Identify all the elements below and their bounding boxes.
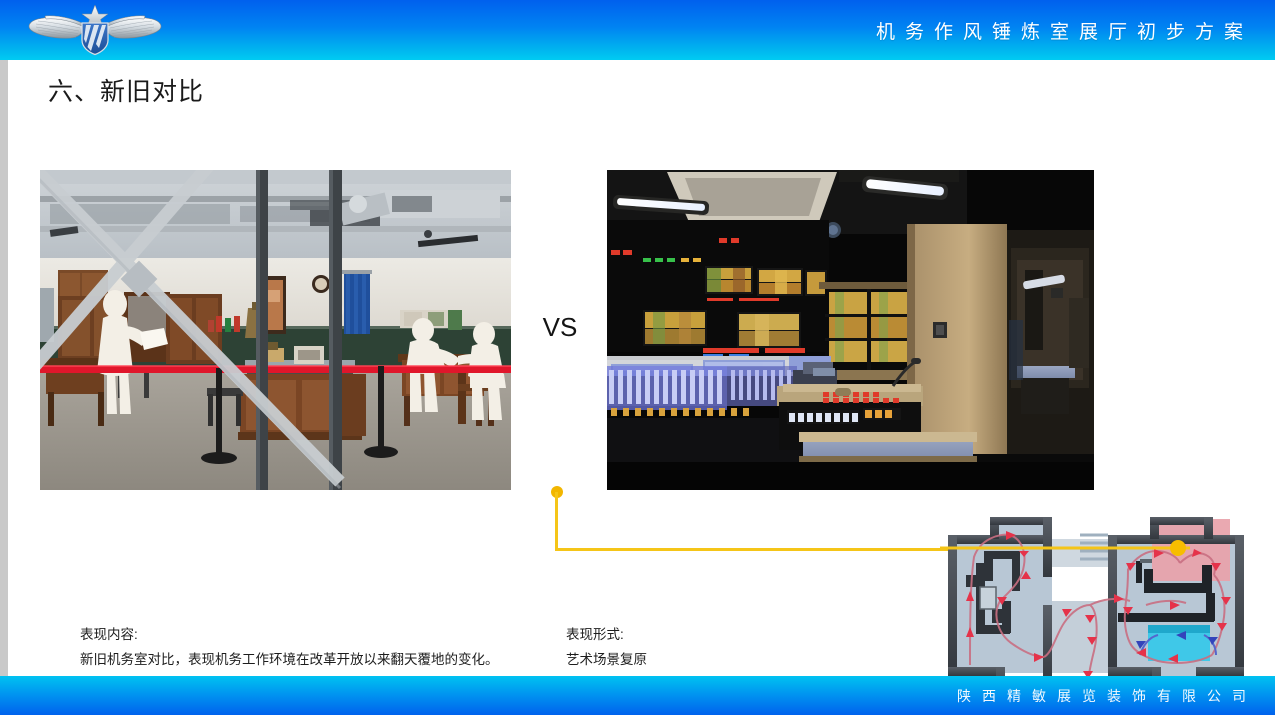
left-edge-strip [0,60,8,676]
caption-content-label: 表现内容: [80,622,499,647]
air-force-wings-badge-icon [26,4,164,56]
caption-content-body: 新旧机务室对比，表现机务工作环境在改革开放以来翻天覆地的变化。 [80,647,499,672]
photo-new-control-room [607,170,1094,490]
caption-form-block: 表现形式: 艺术场景复原 [566,622,647,672]
caption-form-label: 表现形式: [566,622,647,647]
slide-footer: 陕西精敏展览装饰有限公司 [0,676,1275,715]
versus-label: VS [520,312,600,343]
presentation-slide: 机务作风锤炼室展厅初步方案 六、新旧对比 [0,0,1275,715]
caption-content-block: 表现内容: 新旧机务室对比，表现机务工作环境在改革开放以来翻天覆地的变化。 [80,622,499,672]
page-title: 六、新旧对比 [48,72,204,108]
header-nav: 机务作风锤炼室展厅初步方案 [876,0,1253,60]
photo-old-maintenance-room [40,170,511,490]
header-nav-title: 机务作风锤炼室展厅初步方案 [876,17,1253,44]
connector-vertical-line [555,492,558,550]
exhibition-floor-plan [940,505,1260,700]
caption-form-body: 艺术场景复原 [566,647,647,672]
footer-company-name: 陕西精敏展览装饰有限公司 [957,676,1257,715]
slide-header: 机务作风锤炼室展厅初步方案 [0,0,1275,60]
